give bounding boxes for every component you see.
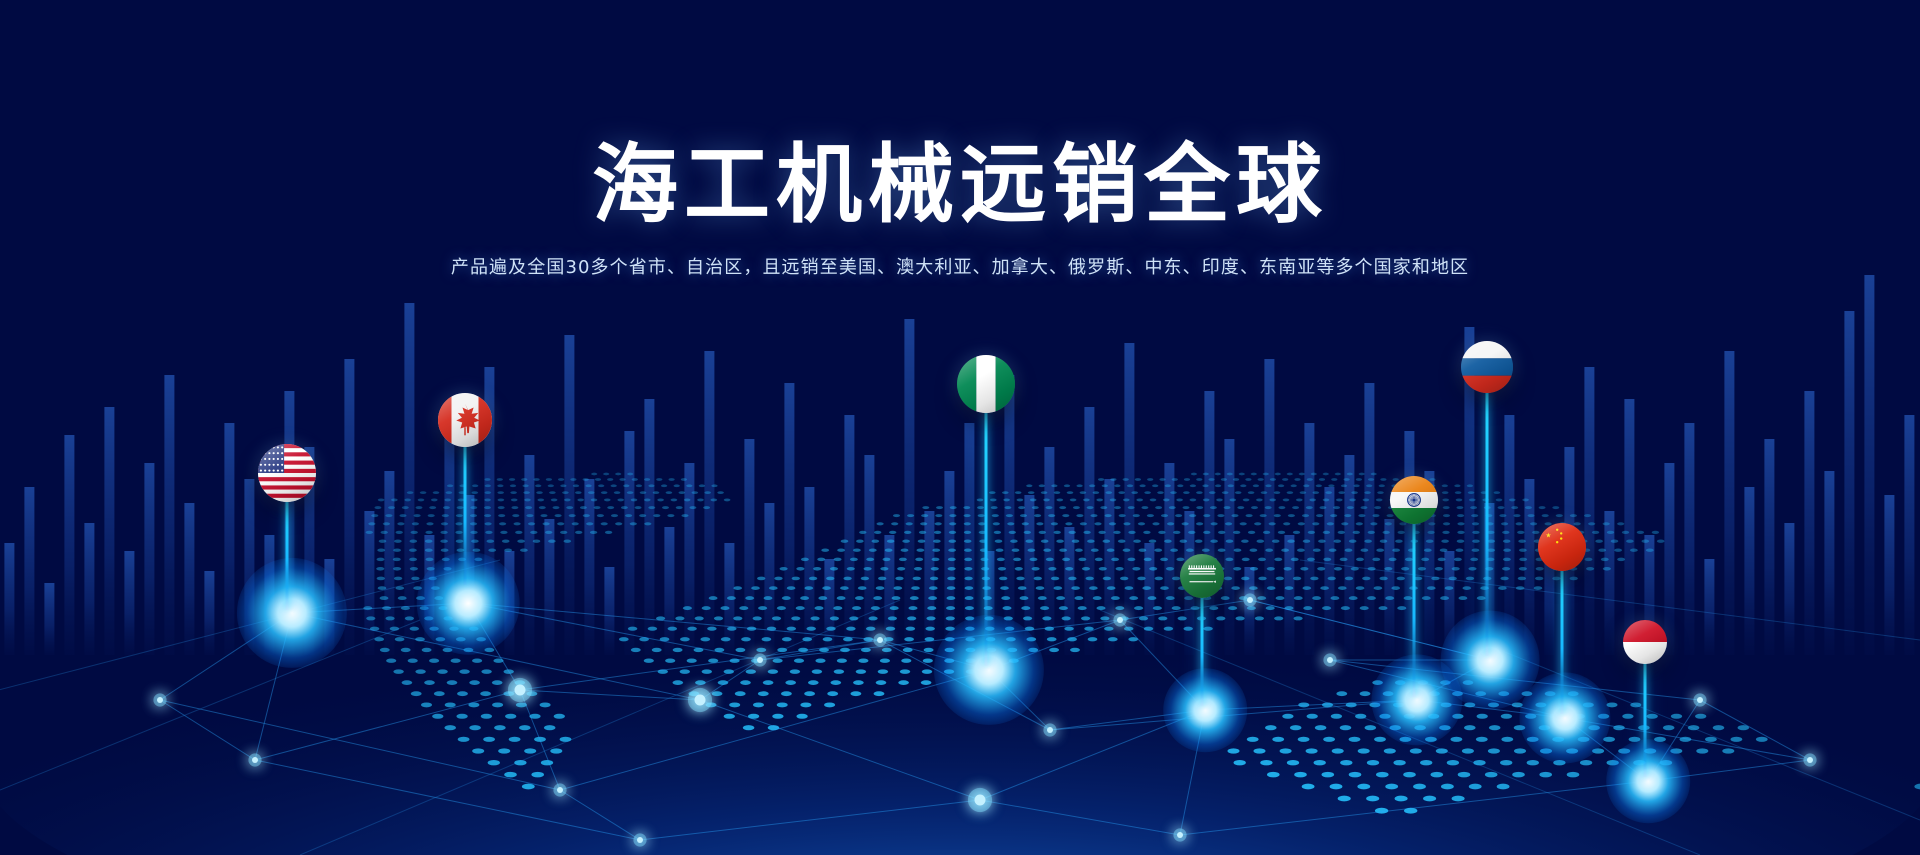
flag-icon-canada[interactable]: [438, 393, 492, 447]
flag-icon-india[interactable]: [1390, 476, 1438, 524]
flag-marker-nigeria[interactable]: [957, 355, 1015, 668]
marker-stem-saudi-arabia: [1201, 596, 1204, 706]
flag-icon-indonesia[interactable]: [1623, 620, 1667, 664]
flag-marker-indonesia[interactable]: [1623, 620, 1667, 779]
flag-icon-saudi-arabia[interactable]: [1180, 554, 1224, 598]
flag-marker-russia[interactable]: [1461, 341, 1513, 658]
flag-marker-canada[interactable]: [438, 393, 492, 587]
flag-marker-united-states[interactable]: [258, 444, 316, 612]
map-dot-matrix: [363, 473, 1920, 814]
hero-banner: 海工机械远销全球 产品遍及全国30多个省市、自治区，且远销至美国、澳大利亚、加拿…: [0, 0, 1920, 855]
flag-icon-united-states[interactable]: [258, 444, 316, 502]
marker-stem-canada: [464, 445, 467, 585]
flag-icon-russia[interactable]: [1461, 341, 1513, 393]
flag-icon-nigeria[interactable]: [957, 355, 1015, 413]
page-subtitle: 产品遍及全国30多个省市、自治区，且远销至美国、澳大利亚、加拿大、俄罗斯、中东、…: [0, 231, 1920, 279]
marker-stem-russia: [1486, 391, 1489, 656]
flag-marker-saudi-arabia[interactable]: [1180, 554, 1224, 708]
marker-stem-united-states: [286, 500, 289, 610]
hero-text-block: 海工机械远销全球 产品遍及全国30多个省市、自治区，且远销至美国、澳大利亚、加拿…: [0, 0, 1920, 279]
marker-stem-china: [1561, 569, 1564, 714]
page-title: 海工机械远销全球: [0, 0, 1920, 231]
marker-stem-indonesia: [1644, 662, 1647, 777]
flag-marker-india[interactable]: [1390, 476, 1438, 699]
flag-marker-china[interactable]: [1538, 523, 1586, 716]
marker-stem-india: [1413, 522, 1416, 697]
marker-stem-nigeria: [985, 411, 988, 666]
flag-icon-china[interactable]: [1538, 523, 1586, 571]
